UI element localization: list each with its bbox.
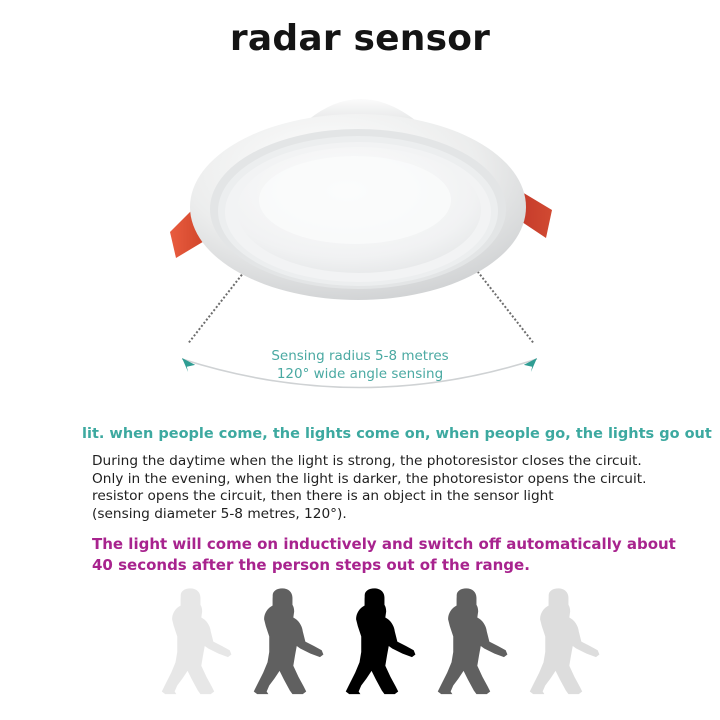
walker-3 (346, 588, 416, 694)
headline-text: lit. when people come, the lights come o… (0, 424, 720, 444)
diffuser-highlight (259, 156, 451, 244)
product-illustration-area: Sensing radius 5-8 metres 120° wide angl… (0, 70, 720, 410)
paragraph-line-2: Only in the evening, when the light is d… (92, 471, 720, 489)
paragraph-line-4: (sensing diameter 5-8 metres, 120°). (92, 506, 720, 524)
walking-figure (240, 580, 326, 705)
sensing-caption-line-1: Sensing radius 5-8 metres (0, 347, 720, 365)
walking-figure (148, 580, 234, 705)
paragraph-line-3: resistor opens the circuit, then there i… (92, 488, 720, 506)
copy-block: lit. when people come, the lights come o… (0, 424, 720, 576)
walker-5 (530, 588, 600, 694)
walking-figure (424, 580, 510, 705)
page-title: radar sensor (0, 18, 720, 59)
walker-2 (254, 588, 324, 694)
infographic-page: radar sensor Sensing radius 5-8 metres 1… (0, 0, 720, 720)
highlight-line-1: The light will come on inductively and s… (92, 534, 720, 555)
body-paragraph: During the daytime when the light is str… (0, 453, 720, 523)
paragraph-line-1: During the daytime when the light is str… (92, 453, 720, 471)
sensing-caption: Sensing radius 5-8 metres 120° wide angl… (0, 347, 720, 383)
walker-1 (162, 588, 232, 694)
walking-figures-row (0, 580, 720, 710)
walker-4 (438, 588, 508, 694)
highlight-text: The light will come on inductively and s… (0, 534, 720, 576)
highlight-line-2: 40 seconds after the person steps out of… (92, 555, 720, 576)
walking-figure (332, 580, 418, 705)
led-downlight-image (160, 80, 560, 320)
sensing-caption-line-2: 120° wide angle sensing (0, 365, 720, 383)
walking-figure (516, 580, 602, 705)
